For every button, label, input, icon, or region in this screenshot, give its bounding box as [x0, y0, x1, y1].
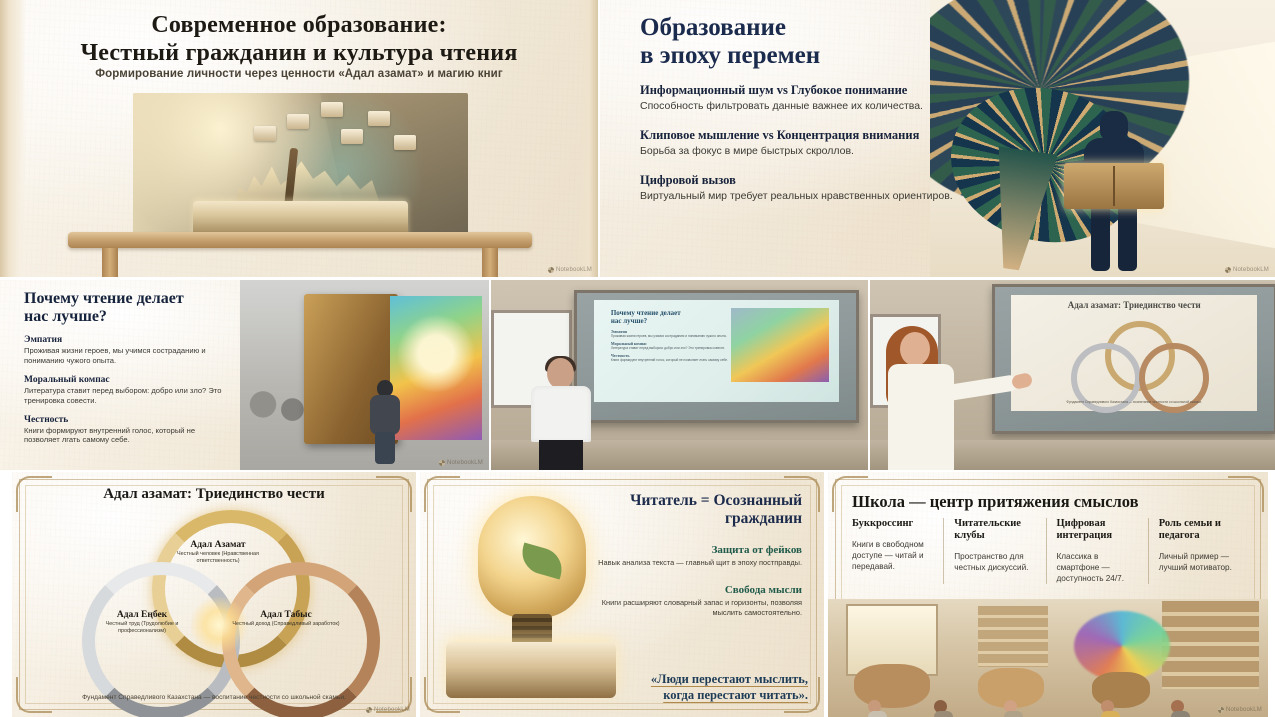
magic-book-tree-illustration	[133, 93, 468, 243]
student-trousers	[539, 440, 583, 470]
slide8-column-3: Цифровая интеграция Классика в смартфоне…	[1046, 518, 1148, 584]
boy-legs	[375, 432, 395, 464]
slide2-heading: Образование в эпоху перемен	[640, 14, 958, 69]
student-body	[1101, 711, 1120, 717]
slide2-block-3: Цифровой вызов Виртуальный мир требует р…	[640, 173, 958, 204]
slide8-column-2-head: Читательские клубы	[954, 518, 1035, 542]
slide7-block-1: Защита от фейков Навык анализа текста — …	[597, 544, 802, 568]
slide2-block-2-head: Клиповое мышление vs Концентрация вниман…	[640, 128, 958, 143]
trinity-rings-diagram: Адал Азамат Честный человек (Нравственна…	[64, 510, 364, 680]
slide3-block-1-text: Проживая жизни героев, мы учимся сострад…	[24, 346, 229, 366]
slide8-column-4-text: Личный пример — лучший мотиватор.	[1159, 552, 1240, 574]
projected-block-1-text: Проживая жизни героев, мы учимся сострад…	[611, 334, 729, 338]
teacher-cardigan	[888, 364, 954, 470]
slide8-column-group: Буккроссинг Книги в свободном доступе — …	[852, 518, 1250, 584]
slide2-block-1-text: Способность фильтровать данные важнее их…	[640, 100, 958, 114]
slide8-column-1-head: Буккроссинг	[852, 518, 933, 530]
slide2-block-2: Клиповое мышление vs Концентрация вниман…	[640, 128, 958, 159]
slide3-block-2-text: Литература ставит перед выбором: добро и…	[24, 386, 229, 406]
slide8-column-3-text: Классика в смартфоне — доступность 24/7.	[1057, 552, 1138, 584]
lightbulb-book-illustration	[446, 496, 616, 696]
projector-screen: Адал азамат: Триединство чести Фундамент…	[992, 284, 1275, 434]
notebooklm-logo-icon	[1218, 707, 1224, 713]
projected-slide: Почему чтение делает нас лучше? Эмпатия …	[594, 300, 839, 402]
slide7-block-2-text: Книги расширяют словарный запас и горизо…	[597, 598, 802, 618]
corner-ornament-top-right	[1228, 476, 1264, 512]
slide8-column-2: Читательские клубы Пространство для чест…	[943, 518, 1045, 584]
photo-teacher-presenting[interactable]: Адал азамат: Триединство чести Фундамент…	[870, 280, 1275, 470]
slide7-heading-line1: Читатель = Осознанный	[597, 492, 802, 510]
slide1-subtitle: Формирование личности через ценности «Ад…	[60, 68, 538, 80]
ring-name-adal-azamat: Адал Азамат	[162, 540, 274, 550]
book-spine-right	[576, 0, 598, 277]
slide7-block-1-text: Навык анализа текста — главный щит в эпо…	[597, 558, 802, 568]
slide2-block-2-text: Борьба за фокус в мире быстрых скроллов.	[640, 145, 958, 159]
ring-desc-adal-tabys: Честный доход (Справедливый заработок)	[230, 621, 342, 628]
slide1-title-line2: Честный гражданин и культура чтения	[40, 40, 558, 68]
projected-block-3-text: Книги формируют внутренний голос, которы…	[611, 358, 729, 362]
open-book-icon	[1064, 163, 1164, 209]
table-leg-right	[482, 248, 498, 277]
watermark-label: NotebookLM	[374, 707, 410, 713]
book-spine-left	[0, 0, 26, 277]
slide-why-reading-makes-us-better[interactable]: Почему чтение делает нас лучше? Эмпатия …	[0, 280, 489, 470]
projected-slide: Адал азамат: Триединство чести Фундамент…	[1011, 295, 1257, 411]
slide7-block-2-head: Свобода мысли	[597, 584, 802, 596]
wooden-table	[68, 232, 532, 277]
slide3-block-2-head: Моральный компас	[24, 375, 229, 385]
bookshelf-center	[978, 606, 1048, 667]
slide7-text-column: Читатель = Осознанный гражданин Защита о…	[597, 492, 802, 618]
slide7-quote-line1: «Люди перестают мыслить,	[593, 671, 808, 687]
digital-vortex-illustration	[930, 0, 1275, 277]
open-book-pages	[446, 642, 616, 698]
projected-footer: Фундамент Справедливого Казахстана — вос…	[1031, 400, 1238, 404]
watermark-label: NotebookLM	[447, 460, 483, 466]
table-leg-left	[102, 248, 118, 277]
ring-name-adal-tabys: Адал Табыс	[230, 610, 342, 620]
slide2-heading-line1: Образование	[640, 14, 958, 42]
slide2-block-3-head: Цифровой вызов	[640, 173, 958, 188]
slide2-text-column: Образование в эпоху перемен Информационн…	[640, 14, 958, 218]
table-top	[68, 232, 532, 248]
notebooklm-watermark: NotebookLM	[439, 460, 483, 466]
colorful-portal	[390, 296, 482, 440]
projected-heading-line2: нас лучше?	[611, 318, 729, 326]
slide7-quote: «Люди перестают мыслить, когда перестают…	[593, 671, 808, 703]
library-photo	[828, 599, 1268, 717]
slide8-column-2-text: Пространство для честных дискуссий.	[954, 552, 1035, 574]
watermark-label: NotebookLM	[1226, 707, 1262, 713]
slide8-column-4: Роль семьи и педагога Личный пример — лу…	[1148, 518, 1250, 584]
student-body	[934, 711, 953, 717]
student-white-shirt	[531, 386, 591, 442]
photo-student-presenting[interactable]: Почему чтение делает нас лучше? Эмпатия …	[491, 280, 868, 470]
slide2-block-1-head: Информационный шум vs Глубокое понимание	[640, 83, 958, 98]
student-head	[547, 358, 574, 389]
ring-desc-adal-enbek: Честный труд (Трудолюбие и профессионали…	[86, 621, 198, 635]
student-body	[868, 711, 887, 717]
silhouette-head	[1100, 111, 1128, 141]
slide-school-center-of-meanings[interactable]: Школа — центр притяжения смыслов Буккрос…	[828, 472, 1268, 717]
reader-silhouette	[1078, 111, 1150, 271]
slide3-block-1: Эмпатия Проживая жизни героев, мы учимся…	[24, 335, 229, 366]
slide3-block-3-text: Книги формируют внутренний голос, которы…	[24, 426, 229, 446]
ring-label-adal-tabys: Адал Табыс Честный доход (Справедливый з…	[230, 610, 342, 628]
book-portal-illustration: NotebookLM	[240, 280, 489, 470]
slide-reader-equals-conscious-citizen[interactable]: Читатель = Осознанный гражданин Защита о…	[420, 472, 824, 717]
teacher-presenter	[886, 324, 982, 470]
notebooklm-logo-icon	[548, 267, 554, 273]
boy-body	[370, 395, 400, 435]
ring-desc-adal-azamat: Честный человек (Нравственная ответствен…	[162, 551, 274, 565]
notebooklm-watermark: NotebookLM	[1225, 267, 1269, 273]
notebooklm-logo-icon	[439, 460, 445, 466]
slide-education-in-era-of-change[interactable]: Образование в эпоху перемен Информационн…	[600, 0, 1275, 277]
slide8-column-4-head: Роль семьи и педагога	[1159, 518, 1240, 542]
projected-illustration	[731, 308, 829, 381]
watermark-label: NotebookLM	[1233, 267, 1269, 273]
slide1-title-line1: Современное образование:	[40, 12, 558, 40]
projected-heading: Адал азамат: Триединство чести	[1011, 301, 1257, 311]
slide-adal-azamat-trinity[interactable]: Адал азамат: Триединство чести Адал Азам…	[12, 472, 416, 717]
grey-crowd-left	[242, 370, 312, 456]
bookshelf-right	[1162, 601, 1259, 688]
ring-name-adal-enbek: Адал Еңбек	[86, 610, 198, 620]
slide7-quote-line2: когда перестают читать».	[593, 687, 808, 703]
slide1-title: Современное образование: Честный граждан…	[40, 12, 558, 68]
slide7-heading: Читатель = Осознанный гражданин	[597, 492, 802, 528]
slide2-heading-line2: в эпоху перемен	[640, 42, 958, 70]
beanbag-3	[1092, 672, 1150, 708]
slide3-heading: Почему чтение делает нас лучше?	[24, 290, 229, 325]
notebooklm-watermark: NotebookLM	[548, 267, 592, 273]
slide7-heading-line2: гражданин	[597, 510, 802, 528]
notebooklm-watermark: NotebookLM	[1218, 707, 1262, 713]
slide8-column-3-head: Цифровая интеграция	[1057, 518, 1138, 542]
notebooklm-logo-icon	[1225, 267, 1231, 273]
slide8-heading: Школа — центр притяжения смыслов	[852, 492, 1139, 512]
watermark-label: NotebookLM	[556, 267, 592, 273]
slide2-block-1: Информационный шум vs Глубокое понимание…	[640, 83, 958, 114]
boy-with-backpack	[368, 380, 402, 464]
slide-title-modern-education[interactable]: Современное образование: Честный граждан…	[0, 0, 598, 277]
slide3-block-1-head: Эмпатия	[24, 335, 229, 345]
slide3-heading-line2: нас лучше?	[24, 308, 229, 326]
slide6-footer: Фундамент Справедливого Казахстана — вос…	[38, 694, 390, 701]
beanbag-1	[854, 664, 930, 708]
book-swirl-graphic	[1074, 611, 1170, 681]
slide3-block-3: Честность Книги формируют внутренний гол…	[24, 415, 229, 446]
slide7-block-2: Свобода мысли Книги расширяют словарный …	[597, 584, 802, 618]
slide6-heading: Адал азамат: Триединство чести	[32, 486, 396, 503]
slide8-column-1: Буккроссинг Книги в свободном доступе — …	[852, 518, 943, 584]
ring-label-adal-azamat: Адал Азамат Честный человек (Нравственна…	[162, 540, 274, 565]
slide3-block-3-head: Честность	[24, 415, 229, 425]
student-body	[1171, 711, 1190, 717]
student-presenter	[529, 358, 593, 470]
slide3-heading-line1: Почему чтение делает	[24, 290, 229, 308]
notebooklm-logo-icon	[366, 707, 372, 713]
slide2-block-3-text: Виртуальный мир требует реальных нравств…	[640, 190, 958, 204]
slide-collage: Современное образование: Честный граждан…	[0, 0, 1275, 717]
slide3-text-column: Почему чтение делает нас лучше? Эмпатия …	[24, 290, 229, 454]
student-body	[1004, 711, 1023, 717]
projector-screen: Почему чтение делает нас лучше? Эмпатия …	[574, 290, 859, 423]
slide3-block-2: Моральный компас Литература ставит перед…	[24, 375, 229, 406]
slide8-column-1-text: Книги в свободном доступе — читай и пере…	[852, 540, 933, 572]
notebooklm-watermark: NotebookLM	[366, 707, 410, 713]
projected-block-2-text: Литература ставит перед выбором: добро и…	[611, 346, 729, 350]
ring-label-adal-enbek: Адал Еңбек Честный труд (Трудолюбие и пр…	[86, 610, 198, 635]
teacher-head	[900, 332, 930, 366]
slide7-block-1-head: Защита от фейков	[597, 544, 802, 556]
